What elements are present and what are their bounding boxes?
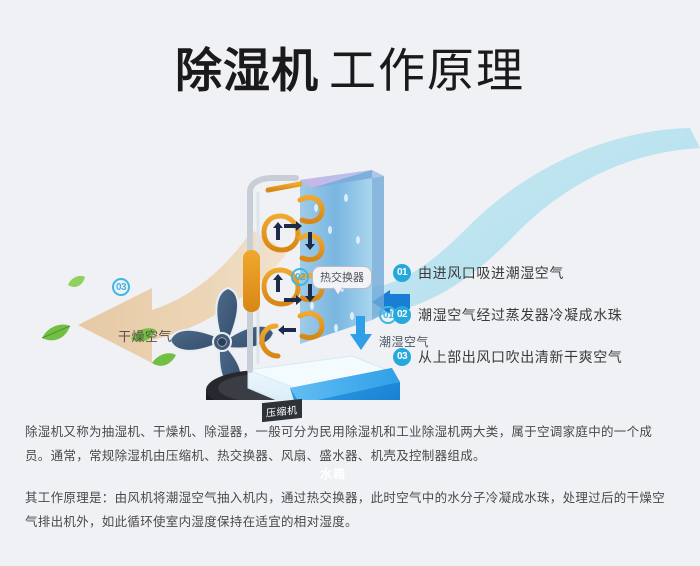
description-paragraph-2: 其工作原理是：由风机将潮湿空气抽入机内，通过热交换器，此时空气中的水分子冷凝成水… bbox=[25, 486, 675, 534]
heat-exchanger-badge: 02 bbox=[291, 268, 309, 286]
list-item: 01 由进风口吸进潮湿空气 bbox=[393, 252, 693, 294]
description-section: 除湿机又称为抽湿机、干燥机、除湿器，一般可分为民用除湿机和工业除湿机两大类，属于… bbox=[25, 420, 675, 534]
page-root: 除湿机工作原理 bbox=[0, 0, 700, 566]
dry-air-label: 干燥空气 bbox=[118, 326, 172, 345]
step-text: 潮湿空气经过蒸发器冷凝成水珠 bbox=[418, 305, 622, 325]
step-text: 由进风口吸进潮湿空气 bbox=[418, 263, 564, 283]
compressor-tag: 压缩机 bbox=[262, 399, 302, 422]
page-title-light: 工作原理 bbox=[329, 44, 525, 97]
steps-list: 01 由进风口吸进潮湿空气 02 潮湿空气经过蒸发器冷凝成水珠 03 从上部出风… bbox=[393, 252, 693, 378]
dry-air-badge: 03 bbox=[112, 278, 130, 296]
description-paragraph-1: 除湿机又称为抽湿机、干燥机、除湿器，一般可分为民用除湿机和工业除湿机两大类，属于… bbox=[25, 420, 675, 468]
page-title-bold: 除湿机 bbox=[175, 44, 319, 97]
accumulator bbox=[243, 250, 260, 312]
step-badge: 01 bbox=[393, 264, 411, 282]
step-badge: 02 bbox=[393, 306, 411, 324]
callout-tail-icon bbox=[333, 286, 343, 294]
page-title: 除湿机工作原理 bbox=[0, 32, 700, 101]
list-item: 03 从上部出风口吹出清新干爽空气 bbox=[393, 336, 693, 378]
step-text: 从上部出风口吹出清新干爽空气 bbox=[418, 347, 622, 367]
step-badge: 03 bbox=[393, 348, 411, 366]
list-item: 02 潮湿空气经过蒸发器冷凝成水珠 bbox=[393, 294, 693, 336]
